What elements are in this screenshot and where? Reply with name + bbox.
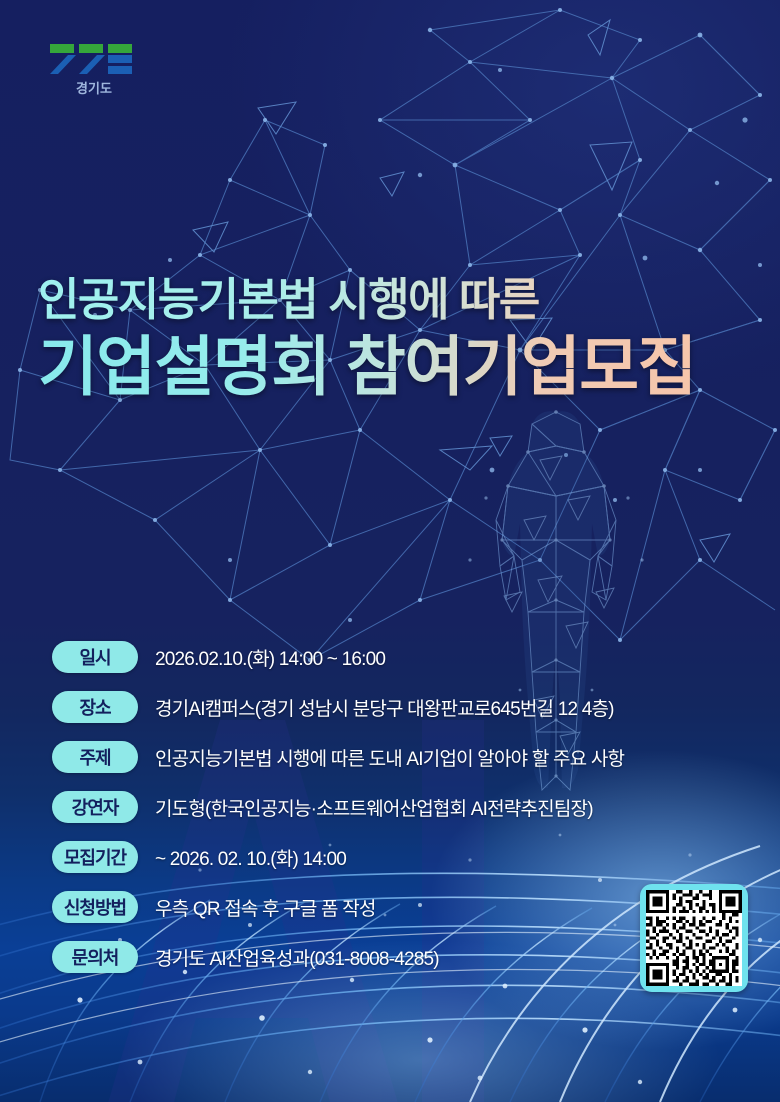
info-value-speaker: 기도형(한국인공지능·소프트웨어산업협회 AI전략추진팀장) [155,794,593,821]
title-line-2: 기업설명회 참여기업모집 [38,328,758,406]
info-label-application-period: 모집기간 [52,841,138,873]
info-value-topic: 인공지능기본법 시행에 따른 도내 AI기업이 알아야 할 주요 사항 [155,744,624,771]
info-row-contact: 문의처 경기도 AI산업육성과(031-8008-4285) [52,932,732,982]
info-row-how-to-apply: 신청방법 우측 QR 접속 후 구글 폼 작성 [52,882,732,932]
info-row-speaker: 강연자 기도형(한국인공지능·소프트웨어산업협회 AI전략추진팀장) [52,782,732,832]
title-line-1: 인공지능기본법 시행에 따른 [38,272,758,328]
info-value-how-to-apply: 우측 QR 접속 후 구글 폼 작성 [155,894,376,921]
info-row-venue: 장소 경기AI캠퍼스(경기 성남시 분당구 대왕판교로645번길 12 4층) [52,682,732,732]
info-label-date: 일시 [52,641,138,673]
gyeonggi-do-logo: 경기도 [46,36,142,98]
event-details-list: 일시 2026.02.10.(화) 14:00 ~ 16:00 장소 경기AI캠… [52,632,732,982]
info-label-topic: 주제 [52,741,138,773]
info-value-application-period: ~ 2026. 02. 10.(화) 14:00 [155,844,346,871]
info-value-venue: 경기AI캠퍼스(경기 성남시 분당구 대왕판교로645번길 12 4층) [155,694,614,721]
info-label-venue: 장소 [52,691,138,723]
event-poster: 경기도 인공지능기본법 시행에 따른 기업설명회 참여기업모집 일시 2026.… [0,0,780,1102]
info-value-date: 2026.02.10.(화) 14:00 ~ 16:00 [155,644,385,671]
info-row-topic: 주제 인공지능기본법 시행에 따른 도내 AI기업이 알아야 할 주요 사항 [52,732,732,782]
info-label-contact: 문의처 [52,941,138,973]
info-row-application-period: 모집기간 ~ 2026. 02. 10.(화) 14:00 [52,832,732,882]
info-label-speaker: 강연자 [52,791,138,823]
info-label-how-to-apply: 신청방법 [52,891,138,923]
qr-code-icon[interactable] [646,890,742,986]
logo-wordmark: 경기도 [76,81,112,96]
poster-title: 인공지능기본법 시행에 따른 기업설명회 참여기업모집 [38,272,758,406]
qr-code-frame[interactable] [640,884,748,992]
info-value-contact: 경기도 AI산업육성과(031-8008-4285) [155,944,439,971]
info-row-date: 일시 2026.02.10.(화) 14:00 ~ 16:00 [52,632,732,682]
logo-blue-strokes [50,55,132,74]
logo-green-bars [50,44,132,53]
